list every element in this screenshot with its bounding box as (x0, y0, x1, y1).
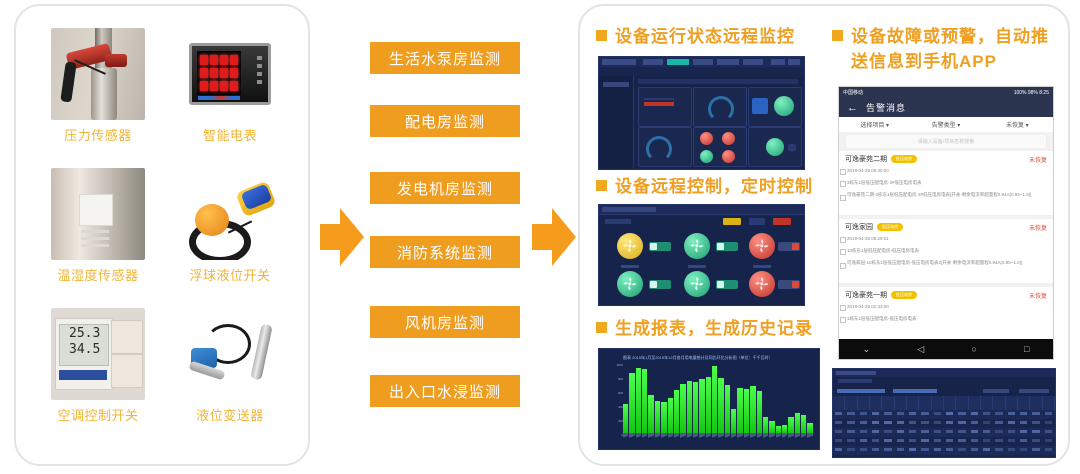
table-cell (956, 437, 968, 446)
device-switch-5[interactable] (716, 280, 738, 289)
ac-display-top: 25.3 (69, 326, 100, 341)
table-cell (882, 455, 894, 458)
chart-x-tick (693, 433, 698, 443)
scenario-chip-3[interactable]: 发电机房监测 (370, 172, 520, 204)
square-bullet-icon (596, 30, 607, 41)
table-column-header (993, 396, 1005, 410)
table-cell (1018, 437, 1030, 446)
history-table-screenshot[interactable] (832, 368, 1056, 458)
alarm-tag: 低压电房 (891, 155, 917, 163)
table-cell (895, 410, 907, 419)
feature-title: 设备远程控制，定时控制 (615, 174, 813, 199)
table-cell (845, 410, 857, 419)
table-cell (1030, 455, 1042, 458)
home-circle-icon[interactable]: ○ (971, 344, 976, 354)
table-cell (956, 455, 968, 458)
table-cell (870, 446, 882, 455)
chart-x-tick (782, 433, 787, 443)
table-cell (833, 419, 845, 428)
chart-bar (731, 409, 736, 433)
device-label: 智能电表 (203, 125, 257, 144)
chart-bar (712, 366, 717, 433)
table-cell (919, 428, 931, 437)
table-cell (870, 455, 882, 458)
table-cell (907, 428, 919, 437)
chart-x-tick (795, 433, 800, 443)
table-cell (895, 428, 907, 437)
table-column-header (956, 396, 968, 410)
table-cell (1043, 446, 1055, 455)
battery-time-label: 100% 98% 8:25 (1014, 90, 1049, 96)
chart-bar (693, 382, 698, 433)
table-cell (858, 437, 870, 446)
chart-x-tick (648, 433, 653, 443)
alarm-location: 10栋东1层低压配电房-低压电房电表 (847, 248, 1047, 254)
alarm-status: 未恢复 (1029, 223, 1047, 232)
table-column-header (1006, 396, 1018, 410)
table-cell (969, 446, 981, 455)
table-cell (858, 455, 870, 458)
chart-x-tick (712, 433, 717, 443)
table-cell (1006, 428, 1018, 437)
chart-x-tick (668, 433, 673, 443)
chart-x-tick (642, 433, 647, 443)
dashboard-content (634, 76, 804, 169)
table-cell (1043, 410, 1055, 419)
chart-x-tick (769, 433, 774, 443)
chart-x-tick (757, 433, 762, 443)
float-level-switch-photo (183, 168, 277, 260)
device-label: 液位变送器 (196, 405, 264, 424)
device-switch-2[interactable] (716, 242, 738, 251)
chart-bar (795, 413, 800, 433)
table-cell (981, 428, 993, 437)
table-cell (1043, 455, 1055, 458)
chart-bar (648, 395, 653, 433)
chart-bar (725, 385, 730, 433)
feature-title: 设备运行状态远程监控 (615, 24, 795, 49)
chart-bar (807, 423, 812, 433)
alarm-tag: 低压电房 (877, 223, 903, 231)
table-column-header (1030, 396, 1042, 410)
table-cell (1018, 410, 1030, 419)
chart-title: 图表 2019年1月至2019年12月各月用电量统计及同比环比分析图（单位：千千… (623, 355, 773, 361)
ac-display-bottom: 34.5 (69, 342, 100, 357)
device-switch-6[interactable] (778, 280, 800, 289)
table-cell (969, 428, 981, 437)
table-column-header (882, 396, 894, 410)
device-card-temp-humidity-sensor: 温湿度传感器 (32, 168, 164, 308)
device-grid: 压力传感器 智 (32, 28, 296, 448)
chart-bar (687, 381, 692, 433)
chart-bar (699, 379, 704, 433)
table-cell (907, 446, 919, 455)
scenario-chip-1[interactable]: 生活水泵房监测 (370, 42, 520, 74)
alarm-list-item[interactable]: 可逸家园 低压电房 未恢复 2019-04-28 05:29:01 10栋东1层… (839, 219, 1053, 284)
device-label: 空调控制开关 (57, 405, 138, 424)
alarm-location: 3栋东1层低压配电房-3#低压电房电表 (847, 180, 1047, 186)
alarm-time: 2019-04-28 05:40:00 (847, 168, 1047, 173)
table-column-header (1043, 396, 1055, 410)
device-label: 压力传感器 (64, 125, 132, 144)
chart-x-tick (737, 433, 742, 443)
chart-x-tick (801, 433, 806, 443)
table-cell (895, 446, 907, 455)
table-cell (944, 410, 956, 419)
table-cell (858, 428, 870, 437)
table-cell (833, 428, 845, 437)
table-column-header (919, 396, 931, 410)
alarm-time: 2019-04-28 02:33:00 (847, 304, 1047, 309)
table-column-header (932, 396, 944, 410)
chart-x-tick (706, 433, 711, 443)
table-cell (882, 419, 894, 428)
table-column-header (1018, 396, 1030, 410)
chart-x-tick (763, 433, 768, 443)
table-cell (1006, 455, 1018, 458)
table-cell (895, 455, 907, 458)
arrow-left-icon[interactable]: ← (847, 102, 858, 114)
table-cell (1018, 419, 1030, 428)
square-bullet-icon (832, 30, 843, 41)
chart-bar (750, 386, 755, 433)
features-panel: 设备运行状态远程监控 设备故障或预警，自动推送信息到手机APP (578, 4, 1070, 466)
phone-page-title: 告警消息 (866, 101, 906, 114)
device-fan-6[interactable] (749, 271, 775, 297)
phone-status-bar: 中国移动 100% 98% 8:25 (839, 87, 1053, 98)
table-column-header (858, 396, 870, 410)
mobile-app-screenshot[interactable]: 中国移动 100% 98% 8:25 ← 告警消息 选择项目 ▾ 告警类型 ▾ … (838, 86, 1054, 360)
square-bullet-icon (596, 180, 607, 191)
chart-bar (629, 373, 634, 433)
chart-x-tick (699, 433, 704, 443)
table-cell (932, 437, 944, 446)
phone-filter-row: 选择项目 ▾ 告警类型 ▾ 未恢复 ▾ (839, 117, 1053, 132)
filter-status[interactable]: 未恢复 ▾ (982, 120, 1053, 129)
alarm-list-item[interactable]: 可逸豪苑一期 低压电房 未恢复 2019-04-28 02:33:00 1栋东1… (839, 287, 1053, 340)
table-cell (1018, 455, 1030, 458)
feature-heading-control: 设备远程控制，定时控制 (596, 174, 826, 199)
table-column-header (895, 396, 907, 410)
filter-alarm-type[interactable]: 告警类型 ▾ (910, 120, 981, 129)
chart-bar (776, 426, 781, 433)
table-cell (944, 437, 956, 446)
table-cell (845, 437, 857, 446)
device-fan-1[interactable] (617, 233, 643, 259)
chart-x-tick (655, 433, 660, 443)
table-cell (882, 437, 894, 446)
chevron-down-icon[interactable]: ⌄ (863, 344, 871, 355)
table-cell (993, 428, 1005, 437)
level-transmitter-photo (183, 308, 277, 400)
table-cell (882, 410, 894, 419)
table-cell (981, 446, 993, 455)
chart-bar (737, 388, 742, 433)
table-cell (845, 419, 857, 428)
table-cell (956, 428, 968, 437)
table-cell (956, 446, 968, 455)
device-card-ac-control-switch: 25.3 34.5 空调控制开关 (32, 308, 164, 448)
chart-bar (757, 391, 762, 433)
chart-x-axis (623, 433, 813, 447)
chart-x-tick (776, 433, 781, 443)
alarm-detail: 可逸家园-10栋东1层低压配电房-低压电房电表2[开关-剩余电流率超量程0.94… (847, 260, 1043, 266)
table-cell (1030, 410, 1042, 419)
table-cell (993, 446, 1005, 455)
table-cell (895, 437, 907, 446)
table-cell (870, 419, 882, 428)
device-switch-3[interactable] (778, 242, 800, 251)
alarm-tag: 低压电房 (891, 291, 917, 299)
chart-bars (623, 365, 813, 433)
filter-project[interactable]: 选择项目 ▾ (839, 120, 910, 129)
table-cell (932, 410, 944, 419)
search-input[interactable]: 请输入设备/项目名称搜索 (845, 134, 1047, 149)
table-cell (969, 410, 981, 419)
alarm-status: 未恢复 (1029, 291, 1047, 300)
chart-x-tick (744, 433, 749, 443)
dashboard-screenshot[interactable] (598, 56, 805, 170)
table-column-header (870, 396, 882, 410)
chart-x-tick (680, 433, 685, 443)
alarm-time: 2019-04-28 05:29:01 (847, 236, 1047, 241)
table-cell (919, 446, 931, 455)
table-cell (1006, 419, 1018, 428)
table-cell (833, 410, 845, 419)
table-cell (907, 437, 919, 446)
table-cell (858, 410, 870, 419)
table-cell (969, 437, 981, 446)
device-switch-4[interactable] (649, 280, 671, 289)
table-cell (932, 446, 944, 455)
chart-bar (668, 398, 673, 433)
table-cell (870, 437, 882, 446)
chart-x-tick (636, 433, 641, 443)
table-cell (993, 455, 1005, 458)
chart-x-tick (731, 433, 736, 443)
feature-title: 生成报表，生成历史记录 (615, 316, 813, 341)
chart-x-tick (623, 433, 628, 443)
chart-bar (788, 417, 793, 433)
carrier-label: 中国移动 (843, 89, 863, 96)
pressure-sensor-photo (51, 28, 145, 120)
table-cell (882, 446, 894, 455)
scenario-column: 生活水泵房监测 配电房监测 发电机房监测 消防系统监测 风机房监测 出入口水浸监… (318, 0, 578, 474)
device-fan-3[interactable] (749, 233, 775, 259)
table-cell (895, 419, 907, 428)
table-cell (907, 419, 919, 428)
alarm-detail: 可逸豪苑二期-3栋东1层低压配电房-3#低压电房电表[开关-剩余电流率超量程0.… (847, 192, 1043, 198)
table-cell (1030, 419, 1042, 428)
device-fan-2[interactable] (684, 233, 710, 259)
scenario-chip-6[interactable]: 出入口水浸监测 (370, 375, 520, 407)
device-card-level-transmitter: 液位变送器 (164, 308, 296, 448)
chart-bar (636, 368, 641, 433)
chart-bar (782, 425, 787, 433)
arrow-right-icon (532, 208, 576, 266)
chart-x-tick (725, 433, 730, 443)
table-cell (833, 446, 845, 455)
chart-bar (744, 389, 749, 433)
table-cell (993, 410, 1005, 419)
chart-x-tick (629, 433, 634, 443)
recents-square-icon[interactable]: □ (1024, 344, 1029, 354)
chart-bar (718, 378, 723, 433)
chart-x-tick (674, 433, 679, 443)
table-cell (969, 419, 981, 428)
chart-bar (680, 384, 685, 433)
table-cell (1006, 410, 1018, 419)
device-label: 温湿度传感器 (57, 265, 138, 284)
chart-bar (769, 421, 774, 433)
table-cell (858, 446, 870, 455)
table-cell (969, 455, 981, 458)
alarm-list-item[interactable]: 可逸豪苑二期 低压电房 未恢复 2019-04-28 05:40:00 3栋东1… (839, 151, 1053, 216)
table-cell (956, 410, 968, 419)
feature-title: 设备故障或预警，自动推送信息到手机APP (851, 24, 1058, 74)
alarm-project: 可逸家园 (845, 222, 873, 232)
control-titlebar (599, 205, 804, 215)
chart-x-tick (788, 433, 793, 443)
table-column-header (833, 396, 845, 410)
device-fan-5[interactable] (684, 271, 710, 297)
table-row[interactable] (833, 455, 1055, 458)
table-cell (1043, 437, 1055, 446)
table-cell (944, 419, 956, 428)
table-header-row (833, 396, 1055, 410)
square-bullet-icon (596, 322, 607, 333)
table-cell (956, 419, 968, 428)
smart-meter-photo (183, 28, 277, 120)
table-cell (932, 419, 944, 428)
table-cell (845, 455, 857, 458)
device-switch-1[interactable] (649, 242, 671, 251)
feature-heading-alarm: 设备故障或预警，自动推送信息到手机APP (832, 24, 1058, 74)
dashboard-sidebar[interactable] (599, 76, 634, 169)
table-cell (981, 410, 993, 419)
chart-bar (661, 402, 666, 433)
table-cell (944, 455, 956, 458)
chart-y-axis: 10008006004002000 (605, 363, 623, 433)
table-cell (981, 419, 993, 428)
table-cell (919, 410, 931, 419)
table-column-header (981, 396, 993, 410)
table-cell (1030, 437, 1042, 446)
scenario-chip-5[interactable]: 风机房监测 (370, 306, 520, 338)
table-cell (858, 419, 870, 428)
table-cell (944, 446, 956, 455)
table-cell (993, 419, 1005, 428)
device-fan-4[interactable] (617, 271, 643, 297)
chart-bar (801, 415, 806, 433)
chart-bar (655, 401, 660, 433)
bar-chart: 图表 2019年1月至2019年12月各月用电量统计及同比环比分析图（单位：千千… (599, 349, 819, 449)
chart-bar (763, 417, 768, 433)
alarm-location: 1栋东1层低压配电房-低压电房电表 (847, 316, 1047, 322)
table-cell (907, 455, 919, 458)
alarm-status: 未恢复 (1029, 155, 1047, 164)
table-titlebar (833, 369, 1055, 377)
table-cell (845, 428, 857, 437)
table-cell (919, 437, 931, 446)
table-cell (907, 410, 919, 419)
feature-heading-monitor: 设备运行状态远程监控 (596, 24, 826, 49)
chart-bar (706, 377, 711, 433)
table-cell (833, 455, 845, 458)
table-cell (993, 437, 1005, 446)
chart-x-tick (687, 433, 692, 443)
report-chart-screenshot[interactable]: 图表 2019年1月至2019年12月各月用电量统计及同比环比分析图（单位：千千… (598, 348, 820, 450)
table-cell (1043, 419, 1055, 428)
table-cell (845, 446, 857, 455)
ac-control-switch-photo: 25.3 34.5 (51, 308, 145, 400)
table-cell (870, 428, 882, 437)
phone-appbar: ← 告警消息 (839, 98, 1053, 117)
table-cell (919, 419, 931, 428)
chart-bar (674, 390, 679, 433)
table-cell (919, 455, 931, 458)
remote-control-screenshot[interactable] (598, 204, 805, 306)
table-cell (981, 437, 993, 446)
device-card-float-level-switch: 浮球液位开关 (164, 168, 296, 308)
scenario-chip-2[interactable]: 配电房监测 (370, 105, 520, 137)
table-cell (870, 410, 882, 419)
table-cell (981, 455, 993, 458)
table-cell (932, 455, 944, 458)
device-card-pressure-sensor: 压力传感器 (32, 28, 164, 168)
table-cell (1018, 428, 1030, 437)
devices-panel: 压力传感器 智 (14, 4, 310, 466)
feature-heading-report: 生成报表，生成历史记录 (596, 316, 826, 341)
table-cell (1030, 428, 1042, 437)
chart-x-tick (718, 433, 723, 443)
scenario-chip-4[interactable]: 消防系统监测 (370, 236, 520, 268)
chart-bar (623, 404, 628, 433)
arrow-right-icon (320, 208, 364, 266)
device-label: 浮球液位开关 (189, 265, 270, 284)
table-cell (1018, 446, 1030, 455)
table-cell (944, 428, 956, 437)
alarm-project: 可逸豪苑一期 (845, 290, 887, 300)
table-column-header (845, 396, 857, 410)
table-cell (1006, 446, 1018, 455)
device-card-smart-meter: 智能电表 (164, 28, 296, 168)
table-column-header (944, 396, 956, 410)
back-triangle-icon[interactable]: ◁ (917, 344, 924, 355)
table-cell (1030, 446, 1042, 455)
chart-y-tick: 1000 (616, 363, 623, 367)
infographic-stage: 压力传感器 智 (0, 0, 1080, 474)
alarm-project: 可逸豪苑二期 (845, 154, 887, 164)
table-column-header (907, 396, 919, 410)
chart-x-tick (661, 433, 666, 443)
table-cell (932, 428, 944, 437)
android-nav-bar: ⌄ ◁ ○ □ (839, 339, 1053, 359)
table-cell (833, 437, 845, 446)
table-cell (1006, 437, 1018, 446)
temp-humidity-sensor-photo (51, 168, 145, 260)
table-column-header (969, 396, 981, 410)
chart-x-tick (750, 433, 755, 443)
table-cell (882, 428, 894, 437)
chart-x-tick (807, 433, 812, 443)
chart-bar (642, 369, 647, 433)
table-cell (1043, 428, 1055, 437)
